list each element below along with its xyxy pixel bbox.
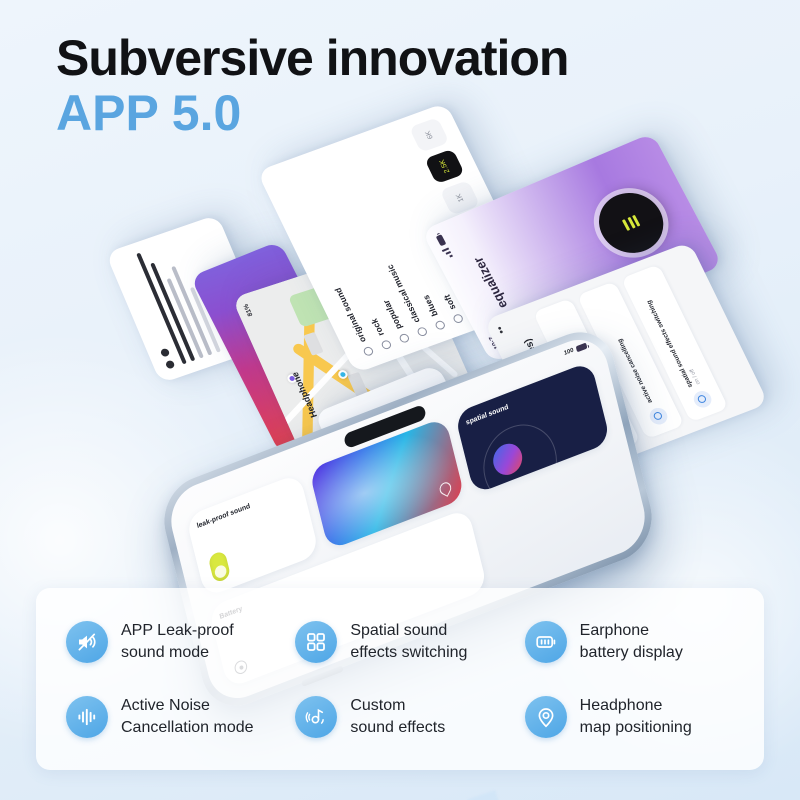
phone-status-bar: 100	[564, 342, 588, 356]
feature-label: Spatial sound effects switching	[350, 620, 467, 663]
feature-spatial-sound: Spatial sound effects switching	[295, 620, 518, 663]
feature-label: Earphone battery display	[580, 620, 683, 663]
toggle-switch[interactable]	[208, 550, 232, 584]
feature-label: APP Leak-proof sound mode	[121, 620, 234, 663]
tile-spatial-audio[interactable]: spatial sound	[455, 361, 611, 494]
feature-line-2: battery display	[580, 642, 683, 663]
equalizer-knob[interactable]	[588, 183, 674, 262]
grid-squares-icon	[295, 621, 337, 663]
noise-cancel-icon	[646, 406, 669, 427]
feature-line-1: APP Leak-proof	[121, 622, 234, 639]
headline-block: Subversive innovation APP 5.0	[56, 32, 568, 141]
feature-headphone-map-positioning: Headphone map positioning	[525, 695, 748, 738]
map-pin-icon	[525, 696, 567, 738]
feature-earphone-battery: Earphone battery display	[525, 620, 748, 663]
feature-label: Active Noise Cancellation mode	[121, 695, 254, 738]
radio-icon	[380, 339, 392, 350]
spatial-audio-icon	[690, 389, 713, 410]
phone-battery-level: 100	[564, 348, 575, 357]
feature-line-2: map positioning	[580, 717, 692, 738]
feature-label: Headphone map positioning	[580, 695, 692, 738]
feature-panel: APP Leak-proof sound mode Spatial sound …	[36, 588, 764, 770]
feature-active-noise-cancellation: Active Noise Cancellation mode	[66, 695, 289, 738]
settings-status-icons: ●●	[496, 325, 506, 335]
feature-line-2: sound effects	[350, 717, 445, 738]
preset-label: blues	[420, 294, 439, 318]
headline-secondary: APP 5.0	[56, 85, 568, 141]
feature-line-2: effects switching	[350, 642, 467, 663]
battery-icon	[576, 342, 588, 352]
radio-icon	[451, 313, 463, 324]
radio-icon	[362, 346, 374, 357]
feature-label: Custom sound effects	[350, 695, 445, 738]
settings-row-sub: on / off	[654, 296, 704, 386]
radio-icon	[416, 326, 428, 337]
feature-line-2: sound mode	[121, 642, 234, 663]
feature-line-1: Earphone	[580, 622, 649, 639]
preset-label: popular	[381, 299, 404, 331]
tile-label: leak-proof sound	[196, 485, 296, 532]
equalizer-bars-icon	[622, 215, 641, 231]
waveform-icon	[66, 696, 108, 738]
radio-icon	[398, 333, 410, 344]
tile-label: spatial sound	[465, 373, 587, 428]
wave-icon	[438, 480, 454, 497]
speaker-muted-icon	[66, 621, 108, 663]
orb-icon	[490, 439, 525, 479]
radio-icon	[434, 320, 446, 331]
feature-line-2: Cancellation mode	[121, 717, 254, 738]
promo-poster: Subversive innovation APP 5.0 AAC / LDAC…	[0, 0, 800, 800]
feature-line-1: Active Noise	[121, 697, 210, 714]
signal-icon	[442, 247, 453, 259]
headline-primary: Subversive innovation	[56, 32, 568, 85]
feature-line-1: Custom	[350, 697, 405, 714]
feature-custom-sound-effects: Custom sound effects	[295, 695, 518, 738]
feature-app-leak-proof: APP Leak-proof sound mode	[66, 620, 289, 663]
frequency-chip-active[interactable]: 2.5K	[424, 149, 465, 184]
feature-line-1: Spatial sound	[350, 622, 447, 639]
preset-label: rock	[369, 317, 386, 337]
card-dots	[160, 348, 176, 370]
battery-icon	[525, 621, 567, 663]
music-note-waves-icon	[295, 696, 337, 738]
feature-line-1: Headphone	[580, 697, 663, 714]
battery-icon	[435, 234, 446, 246]
